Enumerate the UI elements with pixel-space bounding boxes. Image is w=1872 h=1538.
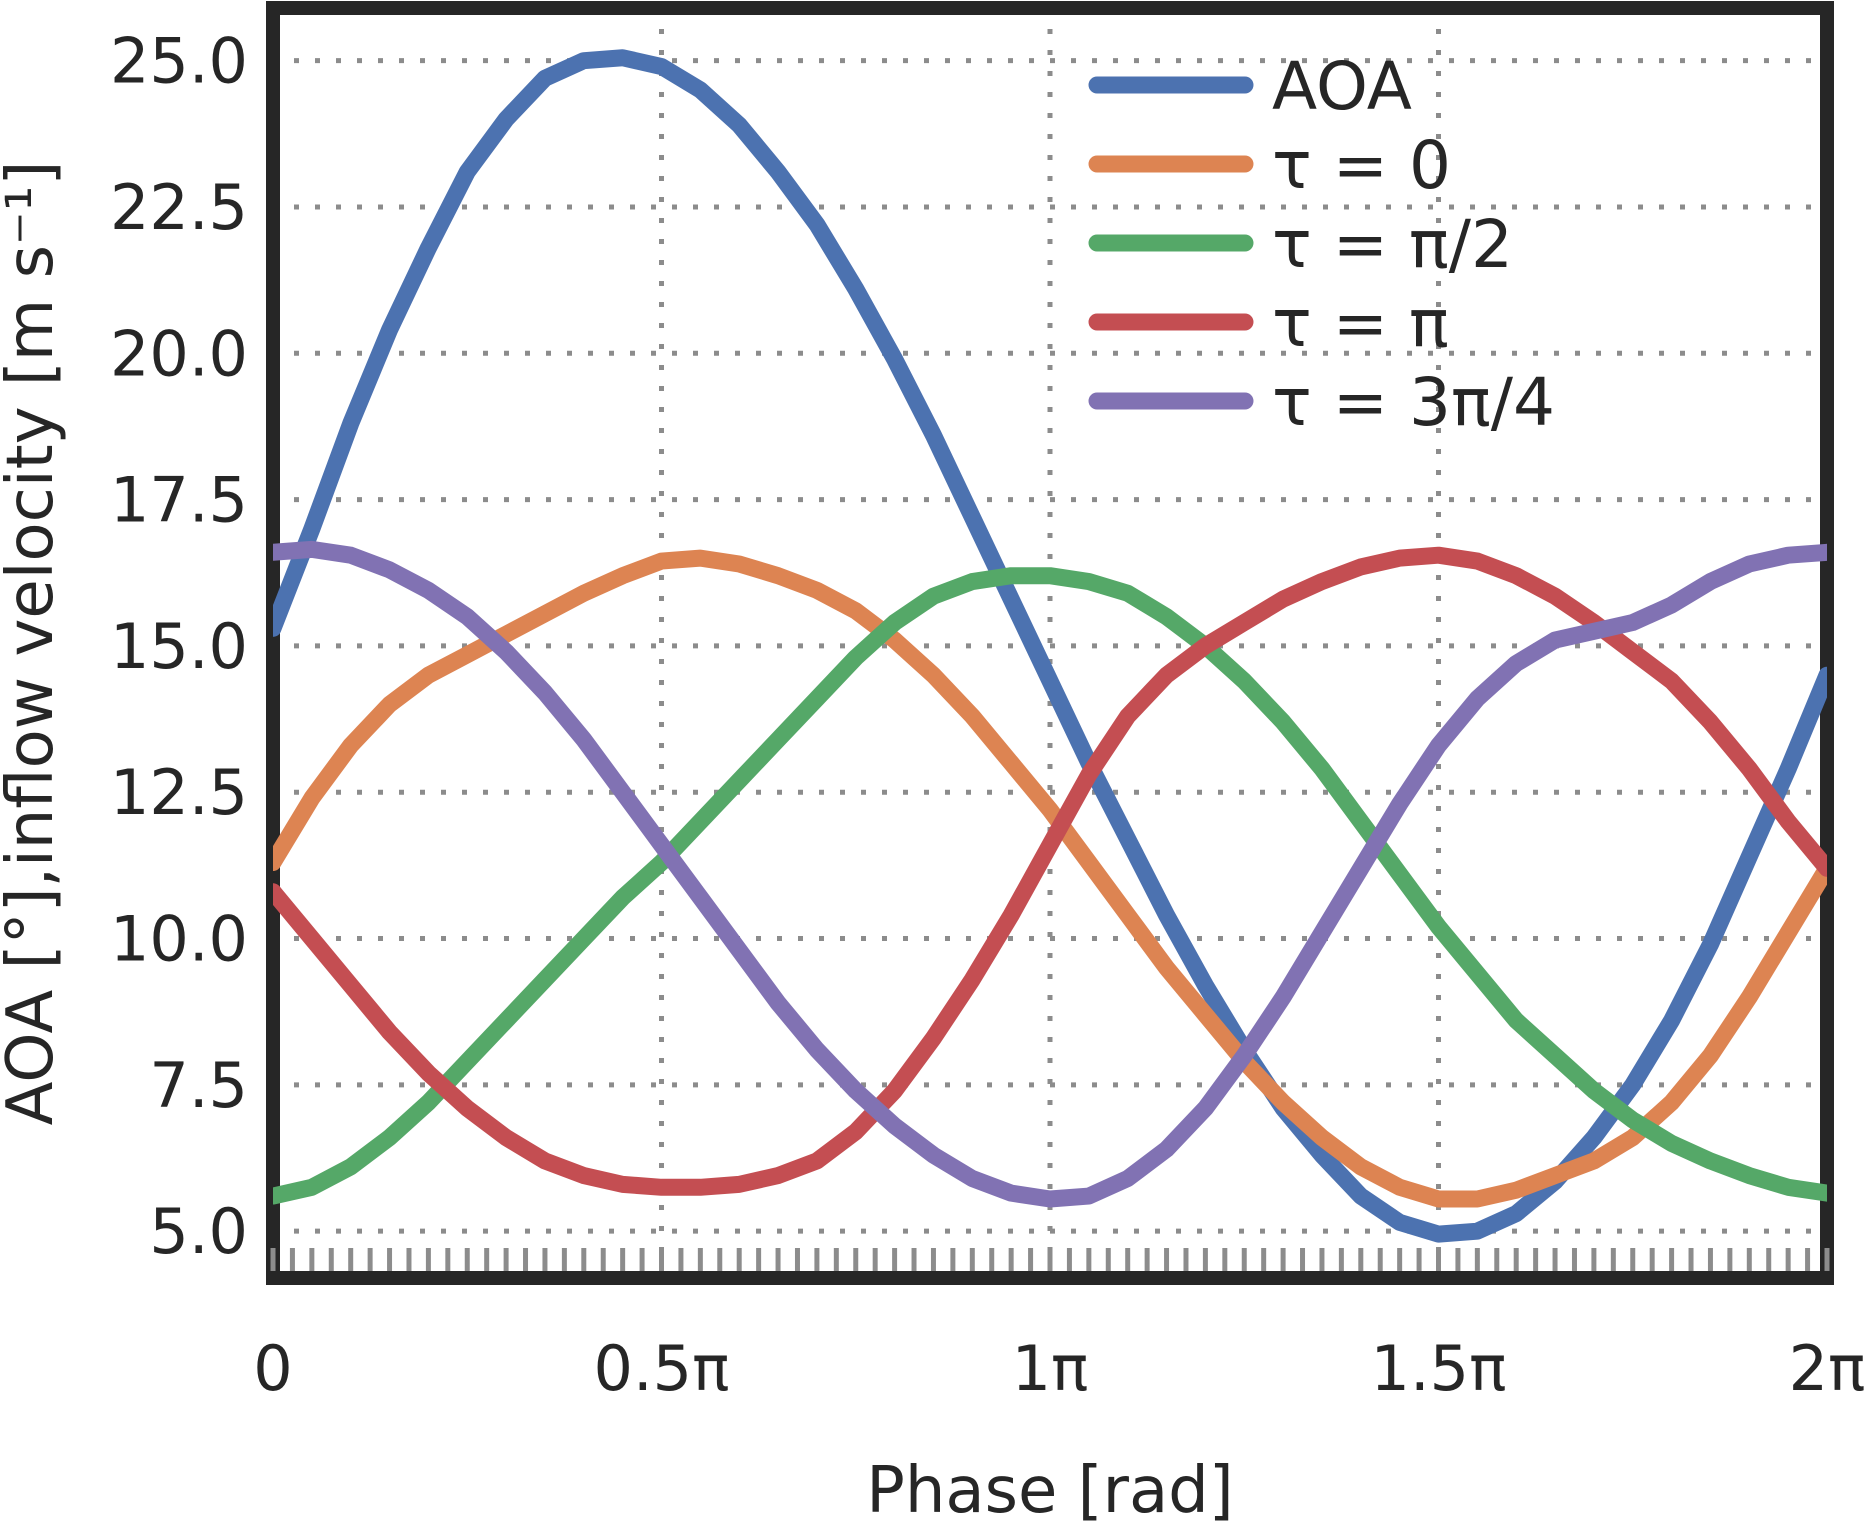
x-tick-label-3: 1.5π [1371,1332,1507,1405]
y-axis-ticks: 5.07.510.012.515.017.520.022.525.0 [110,25,248,1269]
y-tick-label-4: 15.0 [110,610,248,683]
y-axis-title-text: AOA [°],inflow velocity [m s⁻¹] [0,161,68,1126]
chart-canvas: 00.5π1π1.5π2π 5.07.510.012.515.017.520.0… [0,0,1872,1538]
y-tick-label-2: 10.0 [110,903,248,976]
x-axis-title-text: Phase [rad] [866,1454,1234,1528]
y-tick-label-3: 12.5 [110,756,248,829]
legend-label-2: τ = π/2 [1272,206,1513,283]
y-tick-label-1: 7.5 [149,1049,248,1122]
y-tick-label-7: 22.5 [110,171,248,244]
legend-label-4: τ = 3π/4 [1272,364,1555,441]
y-tick-label-6: 20.0 [110,317,248,390]
y-tick-label-0: 5.0 [149,1195,248,1268]
chart-figure: 00.5π1π1.5π2π 5.07.510.012.515.017.520.0… [0,0,1872,1538]
x-tick-label-4: 2π [1789,1332,1866,1405]
y-axis-title: AOA [°],inflow velocity [m s⁻¹] [0,161,68,1126]
x-tick-label-0: 0 [253,1332,292,1405]
minor-ticks [273,1248,1827,1271]
legend-label-1: τ = 0 [1272,127,1451,204]
x-axis-ticks: 00.5π1π1.5π2π [253,1332,1865,1405]
y-tick-label-8: 25.0 [110,25,248,98]
legend-label-0: AOA [1272,48,1412,125]
x-axis-title: Phase [rad] [866,1454,1234,1528]
y-tick-label-5: 17.5 [110,464,248,537]
legend-label-3: τ = π [1272,285,1449,362]
x-tick-label-1: 0.5π [594,1332,730,1405]
legend: AOAτ = 0τ = π/2τ = πτ = 3π/4 [1097,48,1555,441]
x-tick-label-2: 1π [1012,1332,1089,1405]
